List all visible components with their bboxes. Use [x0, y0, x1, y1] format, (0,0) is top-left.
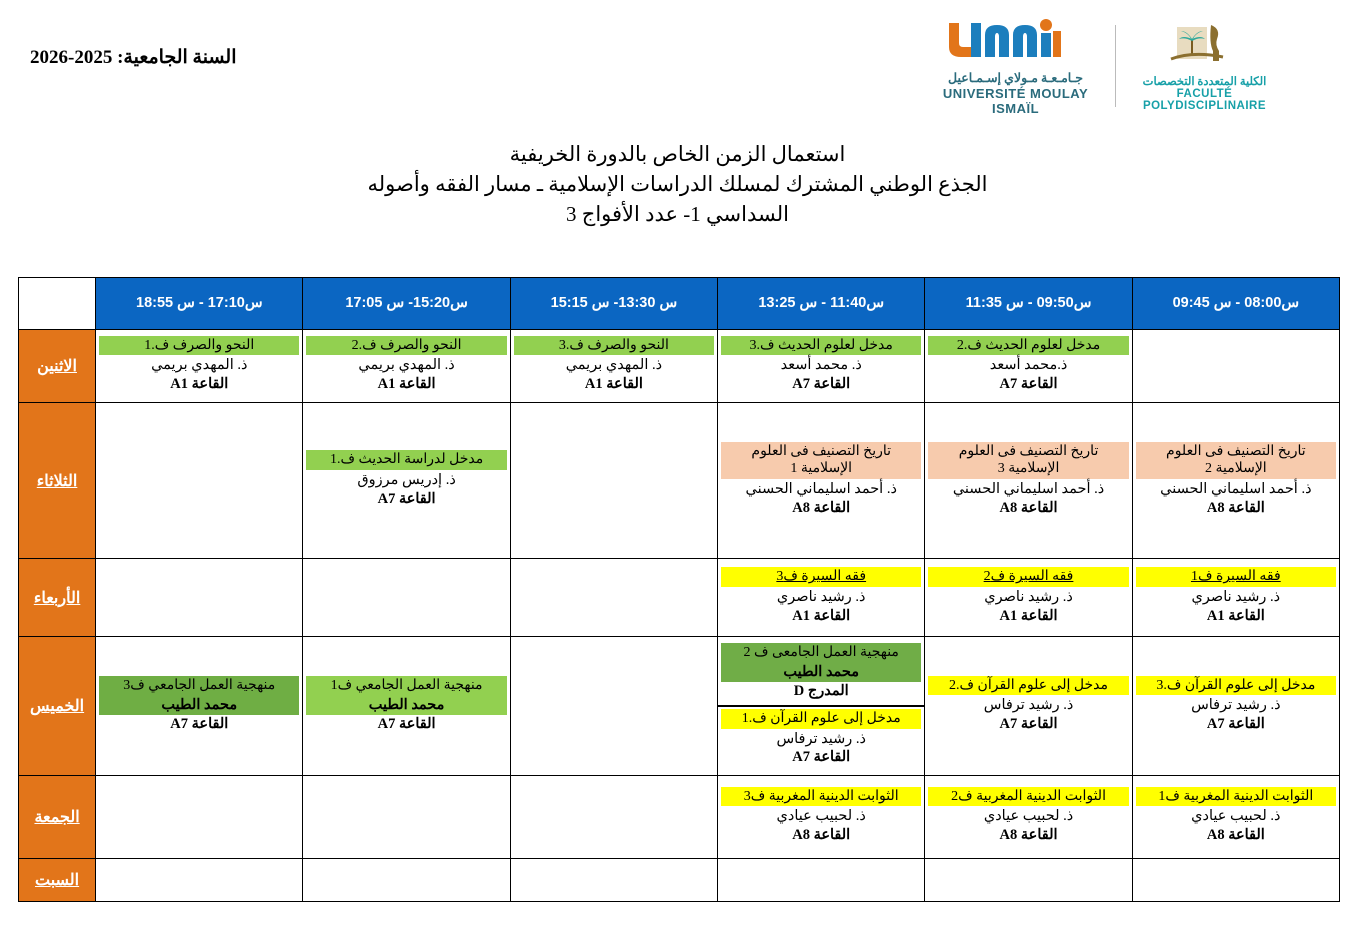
day-label-text: الأربعاء [34, 590, 81, 607]
slot-cell[interactable]: مدخل لعلوم الحديث ف.2ذ.محمد أسعدالقاعة A… [925, 330, 1132, 403]
session-block[interactable]: النحو والصرف ف.2ذ. المهدي بريميالقاعة A1 [303, 334, 509, 398]
session-title: مدخل لعلوم الحديث ف.3 [721, 336, 921, 356]
session-block[interactable]: مدخل إلى علوم القرآن ف.3ذ. رشيد ترفاسالق… [1133, 674, 1339, 738]
session-block[interactable]: فقه السيرة ف1ذ. رشيد ناصريالقاعة A1 [1133, 565, 1339, 629]
session-block[interactable]: فقه السيرة ف2ذ. رشيد ناصريالقاعة A1 [925, 565, 1131, 629]
slot-cell[interactable]: مدخل لدراسة الحديث ف.1ذ. إدريس مرزوقالقا… [303, 403, 510, 559]
slot-cell[interactable] [510, 559, 717, 637]
session-room: القاعة A7 [721, 375, 921, 394]
session-room: القاعة A7 [306, 490, 506, 509]
session-teacher: ذ. لحبيب عيادي [928, 806, 1128, 826]
timetable-container: س08:00 - س 09:45س09:50 - س 11:35س11:40 -… [18, 277, 1340, 902]
session-teacher: ذ. رشيد ناصري [928, 587, 1128, 607]
session-room: القاعة A1 [928, 607, 1128, 626]
day-label-6: السبت [19, 859, 96, 902]
slot-cell[interactable] [96, 559, 303, 637]
title-line-2: الجذع الوطني المشترك لمسلك الدراسات الإس… [0, 170, 1355, 200]
time-slot-header-3: س11:40 - س 13:25 [718, 278, 925, 330]
day-label-5: الجمعة [19, 776, 96, 859]
timetable-row: فقه السيرة ف1ذ. رشيد ناصريالقاعة A1فقه ا… [19, 559, 1340, 637]
session-title: مدخل إلى علوم القرآن ف.2 [928, 676, 1128, 696]
day-label-1: الاثنين [19, 330, 96, 403]
umi-logo-icon [941, 17, 1091, 63]
session-room: القاعة A8 [1136, 499, 1336, 518]
session-title: منهجية العمل الجامعى ف 2 [721, 643, 921, 663]
time-slot-header-2: س09:50 - س 11:35 [925, 278, 1132, 330]
session-teacher: ذ.محمد أسعد [928, 355, 1128, 375]
timetable: س08:00 - س 09:45س09:50 - س 11:35س11:40 -… [18, 277, 1340, 902]
session-title: مدخل إلى علوم القرآن ف.1 [721, 709, 921, 729]
session-room: القاعة A1 [514, 375, 714, 394]
timetable-body: مدخل لعلوم الحديث ف.2ذ.محمد أسعدالقاعة A… [19, 330, 1340, 902]
session-title: مدخل لدراسة الحديث ف.1 [306, 450, 506, 470]
slot-cell[interactable] [510, 776, 717, 859]
session-teacher: ذ. لحبيب عيادي [721, 806, 921, 826]
session-block[interactable]: تاريخ التصنيف فى العلوم الإسلامية 1ذ. أح… [718, 440, 924, 522]
session-block[interactable]: مدخل لعلوم الحديث ف.2ذ.محمد أسعدالقاعة A… [925, 334, 1131, 398]
slot-cell[interactable]: الثوابت الدينية المغربية ف1ذ. لحبيب عياد… [1132, 776, 1339, 859]
slot-cell[interactable]: مدخل لعلوم الحديث ف.3ذ. محمد أسعدالقاعة … [718, 330, 925, 403]
slot-cell[interactable] [925, 859, 1132, 902]
session-title: مدخل إلى علوم القرآن ف.3 [1136, 676, 1336, 696]
session-teacher: محمد الطيب [306, 695, 506, 715]
slot-cell[interactable] [510, 637, 717, 776]
session-room: القاعة A7 [928, 375, 1128, 394]
slot-cell[interactable]: الثوابت الدينية المغربية ف2ذ. لحبيب عياد… [925, 776, 1132, 859]
session-teacher: محمد الطيب [721, 662, 921, 682]
slot-cell[interactable]: النحو والصرف ف.1ذ. المهدي بريميالقاعة A1 [96, 330, 303, 403]
timetable-header-row: س08:00 - س 09:45س09:50 - س 11:35س11:40 -… [19, 278, 1340, 330]
session-teacher: ذ. رشيد ترفاس [928, 695, 1128, 715]
title-line-1: استعمال الزمن الخاص بالدورة الخريفية [0, 140, 1355, 170]
session-room: المدرج D [721, 682, 921, 701]
session-title: الثوابت الدينية المغربية ف1 [1136, 787, 1336, 807]
session-block[interactable]: الثوابت الدينية المغربية ف3ذ. لحبيب عياد… [718, 785, 924, 849]
session-block[interactable]: منهجية العمل الجامعى ف 2محمد الطيبالمدرج… [718, 641, 924, 705]
day-label-text: السبت [35, 872, 79, 889]
fpd-logo-icon [1165, 21, 1245, 67]
timetable-row: السبت [19, 859, 1340, 902]
slot-cell[interactable]: فقه السيرة ف1ذ. رشيد ناصريالقاعة A1 [1132, 559, 1339, 637]
slot-cell[interactable] [1132, 859, 1339, 902]
slot-cell[interactable]: تاريخ التصنيف فى العلوم الإسلامية 1ذ. أح… [718, 403, 925, 559]
session-room: القاعة A8 [721, 826, 921, 845]
time-slot-header-5: س15:20- س 17:05 [303, 278, 510, 330]
slot-cell[interactable]: منهجية العمل الجامعى ف 2محمد الطيبالمدرج… [718, 637, 925, 776]
session-block[interactable]: تاريخ التصنيف فى العلوم الإسلامية 3ذ. أح… [925, 440, 1131, 522]
session-title: النحو والصرف ف.2 [306, 336, 506, 356]
session-room: القاعة A1 [99, 375, 299, 394]
session-title: تاريخ التصنيف فى العلوم الإسلامية 2 [1136, 442, 1336, 479]
page-header: السنة الجامعية: 2025-2026 جـامـعـة مـولا… [0, 0, 1355, 130]
slot-cell[interactable]: مدخل إلى علوم القرآن ف.3ذ. رشيد ترفاسالق… [1132, 637, 1339, 776]
session-block[interactable]: مدخل لدراسة الحديث ف.1ذ. إدريس مرزوقالقا… [303, 448, 509, 512]
session-teacher: ذ. رشيد ناصري [1136, 587, 1336, 607]
session-title: النحو والصرف ف.1 [99, 336, 299, 356]
session-teacher: ذ. المهدي بريمي [306, 355, 506, 375]
session-teacher: ذ. المهدي بريمي [514, 355, 714, 375]
session-block[interactable]: مدخل لعلوم الحديث ف.3ذ. محمد أسعدالقاعة … [718, 334, 924, 398]
slot-cell[interactable] [510, 859, 717, 902]
session-block[interactable]: مدخل إلى علوم القرآن ف.1ذ. رشيد ترفاسالق… [718, 705, 924, 771]
session-room: القاعة A1 [721, 607, 921, 626]
logo-group: جـامـعـة مـولاي إسـمـاعيل UNIVERSITÉ MOU… [925, 14, 1285, 118]
day-label-text: الخميس [30, 698, 84, 715]
timetable-row: مدخل لعلوم الحديث ف.2ذ.محمد أسعدالقاعة A… [19, 330, 1340, 403]
slot-cell[interactable]: منهجية العمل الجامعي ف1محمد الطيبالقاعة … [303, 637, 510, 776]
slot-cell[interactable] [96, 859, 303, 902]
day-label-3: الأربعاء [19, 559, 96, 637]
session-room: القاعة A1 [1136, 607, 1336, 626]
session-teacher: ذ. رشيد ترفاس [1136, 695, 1336, 715]
document-title: استعمال الزمن الخاص بالدورة الخريفية الج… [0, 140, 1355, 229]
day-label-2: الثلاثاء [19, 403, 96, 559]
session-teacher: محمد الطيب [99, 695, 299, 715]
time-slot-header-1: س08:00 - س 09:45 [1132, 278, 1339, 330]
umi-logo-french: UNIVERSITÉ MOULAY ISMAÏL [926, 86, 1106, 116]
umi-logo-arabic: جـامـعـة مـولاي إسـمـاعيل [926, 70, 1106, 86]
session-title: تاريخ التصنيف فى العلوم الإسلامية 1 [721, 442, 921, 479]
session-title: الثوابت الدينية المغربية ف2 [928, 787, 1128, 807]
session-teacher: ذ. لحبيب عيادي [1136, 806, 1336, 826]
slot-cell[interactable] [510, 403, 717, 559]
session-room: القاعة A8 [928, 499, 1128, 518]
timetable-row: مدخل إلى علوم القرآن ف.3ذ. رشيد ترفاسالق… [19, 637, 1340, 776]
slot-cell[interactable]: الثوابت الدينية المغربية ف3ذ. لحبيب عياد… [718, 776, 925, 859]
session-room: القاعة A7 [1136, 715, 1336, 734]
session-block[interactable]: النحو والصرف ف.1ذ. المهدي بريميالقاعة A1 [96, 334, 302, 398]
day-label-4: الخميس [19, 637, 96, 776]
session-block[interactable]: الثوابت الدينية المغربية ف2ذ. لحبيب عياد… [925, 785, 1131, 849]
slot-cell[interactable]: مدخل إلى علوم القرآن ف.2ذ. رشيد ترفاسالق… [925, 637, 1132, 776]
day-label-text: الثلاثاء [37, 473, 78, 490]
session-room: القاعة A7 [306, 715, 506, 734]
slot-cell[interactable] [96, 403, 303, 559]
day-label-text: الاثنين [37, 358, 77, 375]
day-label-text: الجمعة [34, 809, 79, 826]
time-slot-header-6: س17:10 - س 18:55 [96, 278, 303, 330]
session-title: فقه السيرة ف1 [1136, 567, 1336, 587]
slot-cell[interactable] [303, 776, 510, 859]
session-room: القاعة A8 [928, 826, 1128, 845]
session-block[interactable]: مدخل إلى علوم القرآن ف.2ذ. رشيد ترفاسالق… [925, 674, 1131, 738]
timetable-row: تاريخ التصنيف فى العلوم الإسلامية 2ذ. أح… [19, 403, 1340, 559]
time-slot-header-4: س 13:30- س 15:15 [510, 278, 717, 330]
slot-cell[interactable] [1132, 330, 1339, 403]
session-title: منهجية العمل الجامعي ف1 [306, 676, 506, 696]
academic-year-label: السنة الجامعية: 2025-2026 [30, 46, 242, 69]
session-room: القاعة A1 [306, 375, 506, 394]
timetable-row: الثوابت الدينية المغربية ف1ذ. لحبيب عياد… [19, 776, 1340, 859]
slot-cell[interactable]: منهجية العمل الجامعي ف3محمد الطيبالقاعة … [96, 637, 303, 776]
session-teacher: ذ. أحمد اسليماني الحسني [1136, 479, 1336, 499]
slot-cell[interactable] [718, 859, 925, 902]
session-block[interactable]: الثوابت الدينية المغربية ف1ذ. لحبيب عياد… [1133, 785, 1339, 849]
logo-divider [1115, 25, 1116, 107]
session-block[interactable]: منهجية العمل الجامعي ف3محمد الطيبالقاعة … [96, 674, 302, 738]
slot-cell[interactable]: النحو والصرف ف.2ذ. المهدي بريميالقاعة A1 [303, 330, 510, 403]
slot-cell[interactable] [303, 859, 510, 902]
timetable-corner-cell [19, 278, 96, 330]
session-teacher: ذ. إدريس مرزوق [306, 470, 506, 490]
session-title: منهجية العمل الجامعي ف3 [99, 676, 299, 696]
session-teacher: ذ. محمد أسعد [721, 355, 921, 375]
slot-cell[interactable] [303, 559, 510, 637]
session-room: القاعة A8 [721, 499, 921, 518]
session-room: القاعة A7 [721, 748, 921, 767]
session-teacher: ذ. أحمد اسليماني الحسني [928, 479, 1128, 499]
session-teacher: ذ. رشيد ناصري [721, 587, 921, 607]
session-title: تاريخ التصنيف فى العلوم الإسلامية 3 [928, 442, 1128, 479]
session-teacher: ذ. المهدي بريمي [99, 355, 299, 375]
session-room: القاعة A7 [928, 715, 1128, 734]
session-teacher: ذ. رشيد ترفاس [721, 729, 921, 749]
session-room: القاعة A7 [99, 715, 299, 734]
title-line-3: السداسي 1- عدد الأفواج 3 [0, 200, 1355, 230]
slot-cell[interactable] [96, 776, 303, 859]
fpd-logo-french: FACULTÉ POLYDISCIPLINAIRE [1125, 88, 1285, 112]
session-title: النحو والصرف ف.3 [514, 336, 714, 356]
session-block[interactable]: فقه السيرة ف3ذ. رشيد ناصريالقاعة A1 [718, 565, 924, 629]
slot-cell[interactable]: فقه السيرة ف3ذ. رشيد ناصريالقاعة A1 [718, 559, 925, 637]
session-room: القاعة A8 [1136, 826, 1336, 845]
umi-logo: جـامـعـة مـولاي إسـمـاعيل UNIVERSITÉ MOU… [926, 17, 1106, 116]
slot-cell[interactable]: تاريخ التصنيف فى العلوم الإسلامية 2ذ. أح… [1132, 403, 1339, 559]
slot-cell[interactable]: النحو والصرف ف.3ذ. المهدي بريميالقاعة A1 [510, 330, 717, 403]
session-title: الثوابت الدينية المغربية ف3 [721, 787, 921, 807]
session-title: مدخل لعلوم الحديث ف.2 [928, 336, 1128, 356]
session-block[interactable]: تاريخ التصنيف فى العلوم الإسلامية 2ذ. أح… [1133, 440, 1339, 522]
session-title: فقه السيرة ف2 [928, 567, 1128, 587]
session-block[interactable]: النحو والصرف ف.3ذ. المهدي بريميالقاعة A1 [511, 334, 717, 398]
slot-cell[interactable]: فقه السيرة ف2ذ. رشيد ناصريالقاعة A1 [925, 559, 1132, 637]
fpd-logo: الكلية المتعددة التخصصات FACULTÉ POLYDIS… [1125, 21, 1285, 112]
fpd-logo-arabic: الكلية المتعددة التخصصات [1125, 74, 1285, 88]
session-teacher: ذ. أحمد اسليماني الحسني [721, 479, 921, 499]
slot-cell[interactable]: تاريخ التصنيف فى العلوم الإسلامية 3ذ. أح… [925, 403, 1132, 559]
session-title: فقه السيرة ف3 [721, 567, 921, 587]
session-block[interactable]: منهجية العمل الجامعي ف1محمد الطيبالقاعة … [303, 674, 509, 738]
